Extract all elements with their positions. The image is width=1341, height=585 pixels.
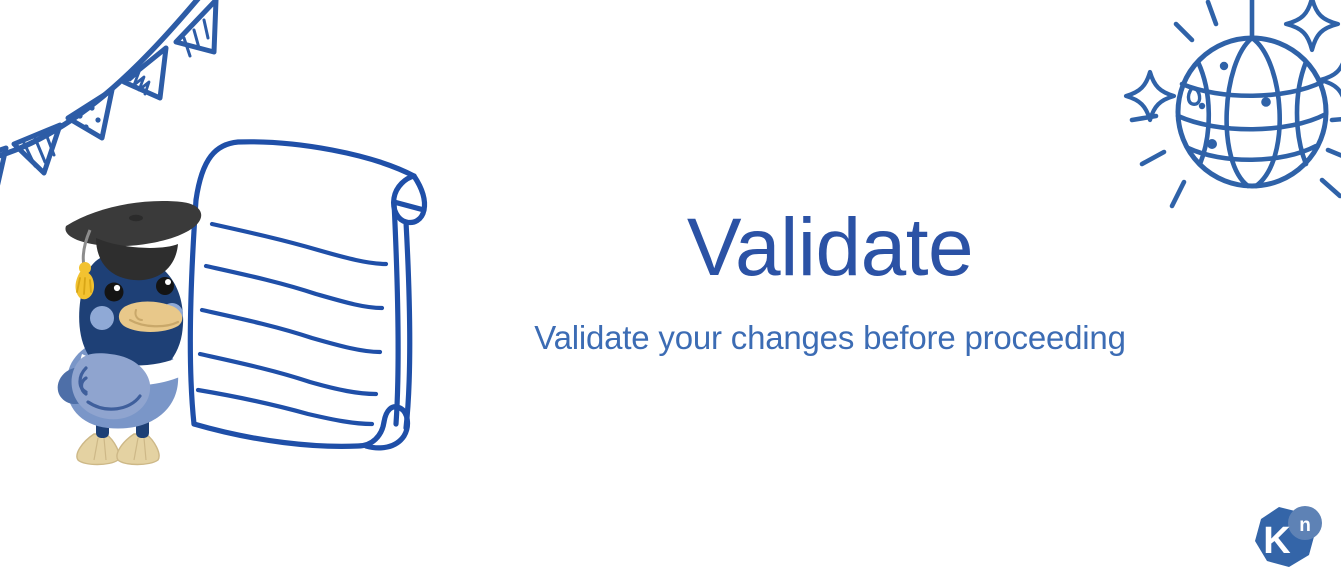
page-title: Validate	[470, 205, 1190, 290]
party-bunting-garland	[0, 0, 248, 201]
killercoda-logo[interactable]: K n	[1249, 503, 1325, 575]
logo-letter-n: n	[1299, 515, 1311, 536]
logo-letter-k: K	[1263, 520, 1291, 562]
hero-text-block: Validate Validate your changes before pr…	[470, 205, 1190, 358]
certificate-scroll	[176, 136, 466, 456]
graduate-bird-mascot	[52, 186, 242, 472]
disco-ball	[1116, 0, 1341, 234]
slide-canvas: Validate Validate your changes before pr…	[0, 0, 1341, 585]
page-subtitle: Validate your changes before proceeding	[470, 318, 1190, 358]
